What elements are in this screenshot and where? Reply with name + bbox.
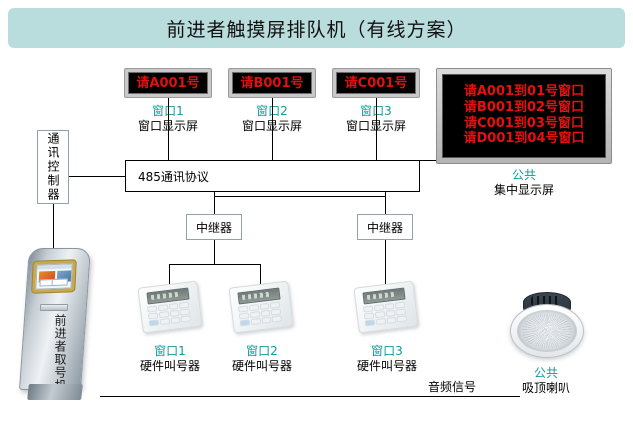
link-repeater1-to-caller2	[260, 264, 261, 284]
link-protocol-to-repeater-2	[385, 192, 386, 214]
communication-controller-label: 通讯控制器	[47, 132, 59, 202]
hardware-caller-1-caption-bottom: 硬件叫号器	[128, 359, 212, 374]
public-display-caption: 公共 集中显示屏	[436, 168, 612, 198]
page-title: 前进者触摸屏排队机（有线方案）	[166, 15, 466, 42]
ceiling-speaker	[505, 290, 587, 362]
hardware-caller-2-caption-bottom: 硬件叫号器	[220, 359, 304, 374]
public-display-line-4: 请D001到04号窗口	[463, 132, 584, 147]
link-repeater1-drop	[214, 240, 215, 264]
page-title-bar: 前进者触摸屏排队机（有线方案）	[8, 8, 625, 48]
window-display-1-text: 请A001号	[136, 77, 199, 90]
public-display-line-1: 请A001到01号窗口	[464, 85, 584, 100]
ticket-kiosk-body-text: 前进者取号机	[48, 314, 66, 392]
hardware-caller-3	[356, 284, 418, 334]
diagram-canvas: 前进者触摸屏排队机（有线方案） 请A001号 请B001号 请C001号 窗口1…	[0, 0, 633, 434]
hardware-caller-2	[231, 284, 293, 334]
link-kiosk-to-speaker-audio	[100, 396, 520, 397]
public-display-caption-bottom: 集中显示屏	[436, 183, 612, 198]
window-display-1-screen: 请A001号	[128, 72, 208, 94]
ceiling-speaker-grill	[517, 310, 577, 352]
audio-signal-label: 音频信号	[428, 378, 476, 395]
repeater-2-label: 中继器	[367, 219, 403, 236]
ceiling-speaker-caption: 公共 吸顶喇叭	[505, 366, 587, 396]
window-display-3-screen: 请C001号	[336, 72, 416, 94]
link-controller-to-protocol	[69, 176, 125, 177]
communication-controller-box: 通讯控制器	[37, 130, 69, 204]
protocol-bar-label: 485通讯协议	[126, 168, 209, 185]
hardware-caller-3-caption-bottom: 硬件叫号器	[345, 359, 429, 374]
window-display-1: 请A001号	[124, 68, 212, 98]
ticket-kiosk-base	[27, 384, 83, 400]
protocol-bar: 485通讯协议	[125, 160, 420, 192]
ticket-kiosk-screen-button-2[interactable]	[51, 279, 67, 287]
window-display-2-screen: 请B001号	[232, 72, 312, 94]
repeater-1-label: 中继器	[196, 219, 232, 236]
link-protocol-to-repeaters-bus	[214, 196, 385, 197]
link-display1-to-protocol	[168, 98, 169, 160]
repeater-2: 中继器	[357, 214, 413, 240]
window-display-2: 请B001号	[228, 68, 316, 98]
hardware-caller-1-caption-top: 窗口1	[128, 344, 212, 359]
ticket-kiosk-touchscreen[interactable]	[31, 259, 77, 294]
link-display2-to-protocol	[272, 98, 273, 160]
public-display-line-3: 请C001到03号窗口	[464, 117, 584, 132]
window-display-2-text: 请B001号	[240, 77, 303, 90]
link-public-display-to-protocol	[420, 160, 436, 161]
hardware-caller-1-caption: 窗口1 硬件叫号器	[128, 344, 212, 374]
hardware-caller-2-caption: 窗口2 硬件叫号器	[220, 344, 304, 374]
window-display-3: 请C001号	[332, 68, 420, 98]
hardware-caller-3-caption: 窗口3 硬件叫号器	[345, 344, 429, 374]
link-display3-to-protocol	[376, 98, 377, 160]
public-display-line-2: 请B001到02号窗口	[464, 101, 584, 116]
link-repeater1-bus	[169, 264, 260, 265]
hardware-caller-3-caption-top: 窗口3	[345, 344, 429, 359]
link-repeater2-to-caller3	[385, 240, 386, 284]
hardware-caller-2-caption-top: 窗口2	[220, 344, 304, 359]
ticket-kiosk: 前进者取号机	[18, 248, 96, 400]
repeater-1: 中继器	[186, 214, 242, 240]
link-controller-to-kiosk	[53, 204, 54, 250]
ceiling-speaker-caption-bottom: 吸顶喇叭	[505, 381, 587, 396]
public-display: 请A001到01号窗口 请B001到02号窗口 请C001到03号窗口 请D00…	[436, 68, 612, 164]
ceiling-speaker-caption-top: 公共	[505, 366, 587, 381]
ticket-kiosk-screen-header	[37, 264, 71, 269]
hardware-caller-1	[140, 284, 202, 334]
ticket-kiosk-screen-ui	[35, 263, 72, 289]
link-protocol-to-repeater-1	[214, 192, 215, 214]
window-display-3-text: 请C001号	[345, 77, 408, 90]
link-repeater1-to-caller1	[169, 264, 170, 284]
public-display-screen: 请A001到01号窗口 请B001到02号窗口 请C001到03号窗口 请D00…	[442, 74, 606, 158]
public-display-caption-top: 公共	[436, 168, 612, 183]
ticket-printer-slot	[40, 304, 68, 311]
